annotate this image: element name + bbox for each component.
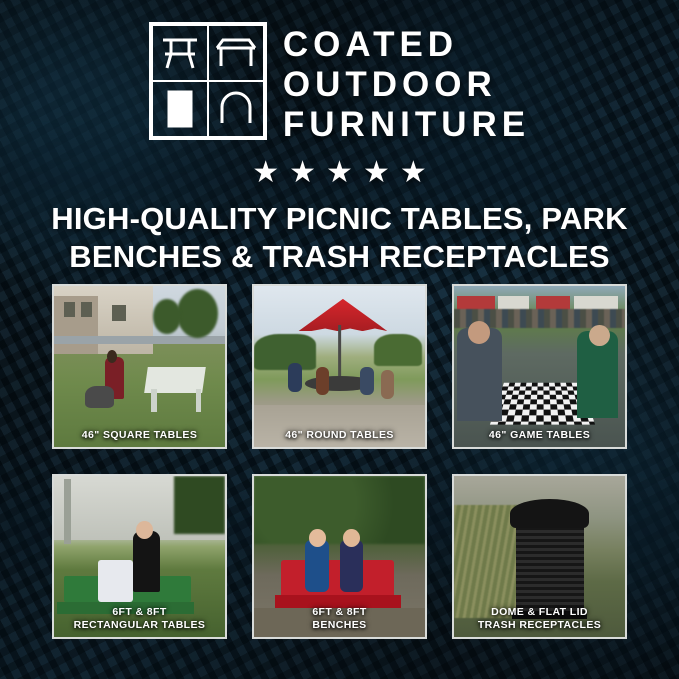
- headline-line-1: HIGH-QUALITY PICNIC TABLES, PARK: [34, 200, 645, 238]
- star-icon: ★: [289, 158, 316, 188]
- arch-bench-icon: [208, 81, 264, 137]
- headline-line-2: BENCHES & TRASH RECEPTACLES: [34, 238, 645, 276]
- brand-line-3: FURNITURE: [283, 106, 530, 144]
- product-grid: 46" SQUARE TABLES 46" ROUND TABLES: [52, 284, 627, 639]
- product-caption: 6FT & 8FT RECTANGULAR TABLES: [54, 606, 225, 631]
- product-caption: 46" SQUARE TABLES: [54, 429, 225, 441]
- marketing-banner: COATED OUTDOOR FURNITURE ★ ★ ★ ★ ★ HIGH-…: [0, 0, 679, 679]
- star-icon: ★: [252, 158, 279, 188]
- park-bench-icon: [208, 25, 264, 81]
- logo-icon-grid: [149, 22, 267, 140]
- brand-line-2: OUTDOOR: [283, 66, 530, 104]
- product-photo: [454, 286, 625, 447]
- product-card-rectangular-tables[interactable]: 6FT & 8FT RECTANGULAR TABLES: [52, 474, 227, 639]
- star-icon: ★: [400, 158, 427, 188]
- picnic-table-end-icon: [152, 25, 208, 81]
- product-photo: [54, 286, 225, 447]
- star-icon: ★: [326, 158, 353, 188]
- product-caption: DOME & FLAT LID TRASH RECEPTACLES: [454, 606, 625, 631]
- trash-receptacle-icon: [152, 81, 208, 137]
- product-card-trash-receptacles[interactable]: DOME & FLAT LID TRASH RECEPTACLES: [452, 474, 627, 639]
- product-card-game-tables[interactable]: 46" GAME TABLES: [452, 284, 627, 449]
- product-caption: 46" GAME TABLES: [454, 429, 625, 441]
- product-card-benches[interactable]: 6FT & 8FT BENCHES: [252, 474, 427, 639]
- star-rating: ★ ★ ★ ★ ★: [0, 158, 679, 188]
- product-card-square-tables[interactable]: 46" SQUARE TABLES: [52, 284, 227, 449]
- product-caption: 6FT & 8FT BENCHES: [254, 606, 425, 631]
- brand-logo: COATED OUTDOOR FURNITURE: [0, 22, 679, 143]
- product-card-round-tables[interactable]: 46" ROUND TABLES: [252, 284, 427, 449]
- product-photo: [254, 286, 425, 447]
- brand-line-1: COATED: [283, 26, 530, 64]
- brand-wordmark: COATED OUTDOOR FURNITURE: [283, 22, 530, 143]
- star-icon: ★: [363, 158, 390, 188]
- page-title: HIGH-QUALITY PICNIC TABLES, PARK BENCHES…: [34, 200, 645, 276]
- product-caption: 46" ROUND TABLES: [254, 429, 425, 441]
